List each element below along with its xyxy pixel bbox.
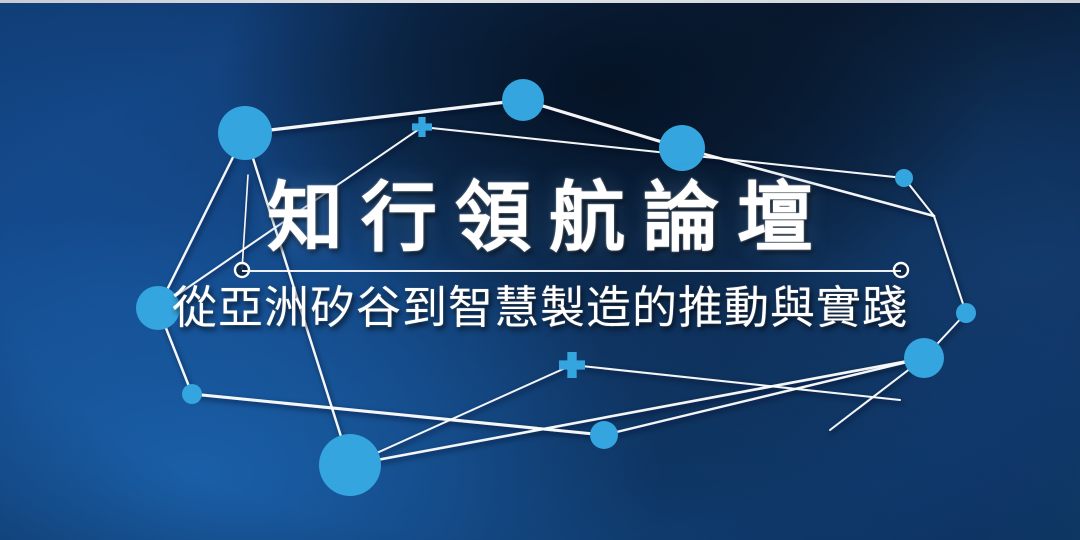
node-bottom-center-large [319,434,381,496]
node-left-lower-small [182,384,202,404]
node-left-mid [136,286,180,330]
edge-crosslow-n9 [350,365,572,465]
node-top-center [502,79,544,121]
edge-n1-n2 [245,100,523,133]
network-crosses [412,117,585,378]
node-divider-left-ring [235,263,249,277]
edge-n1-n9 [245,133,350,465]
edge-crosslow-n6 [572,365,900,400]
edge-diag1 [934,216,966,313]
network-constellation-graphic [0,0,1080,540]
node-right-upper-small [895,169,913,187]
edge-n7-n1 [158,133,245,308]
node-right-mid [956,303,976,323]
network-edges [158,100,966,465]
node-bottom-right [590,421,618,449]
poster-canvas: 知行領航論壇 從亞洲矽谷到智慧製造的推動與實踐 [0,0,1080,540]
edge-cross-n7 [158,127,422,308]
node-divider-right-ring [894,263,908,277]
cross-marker-lower [559,352,585,378]
cross-marker-upper [412,117,432,137]
node-top-right [659,125,705,171]
edge-n9-n6 [350,358,924,465]
edge-ring-l [242,175,248,270]
node-top-left-large [218,106,272,160]
node-right-lower-large [904,338,944,378]
